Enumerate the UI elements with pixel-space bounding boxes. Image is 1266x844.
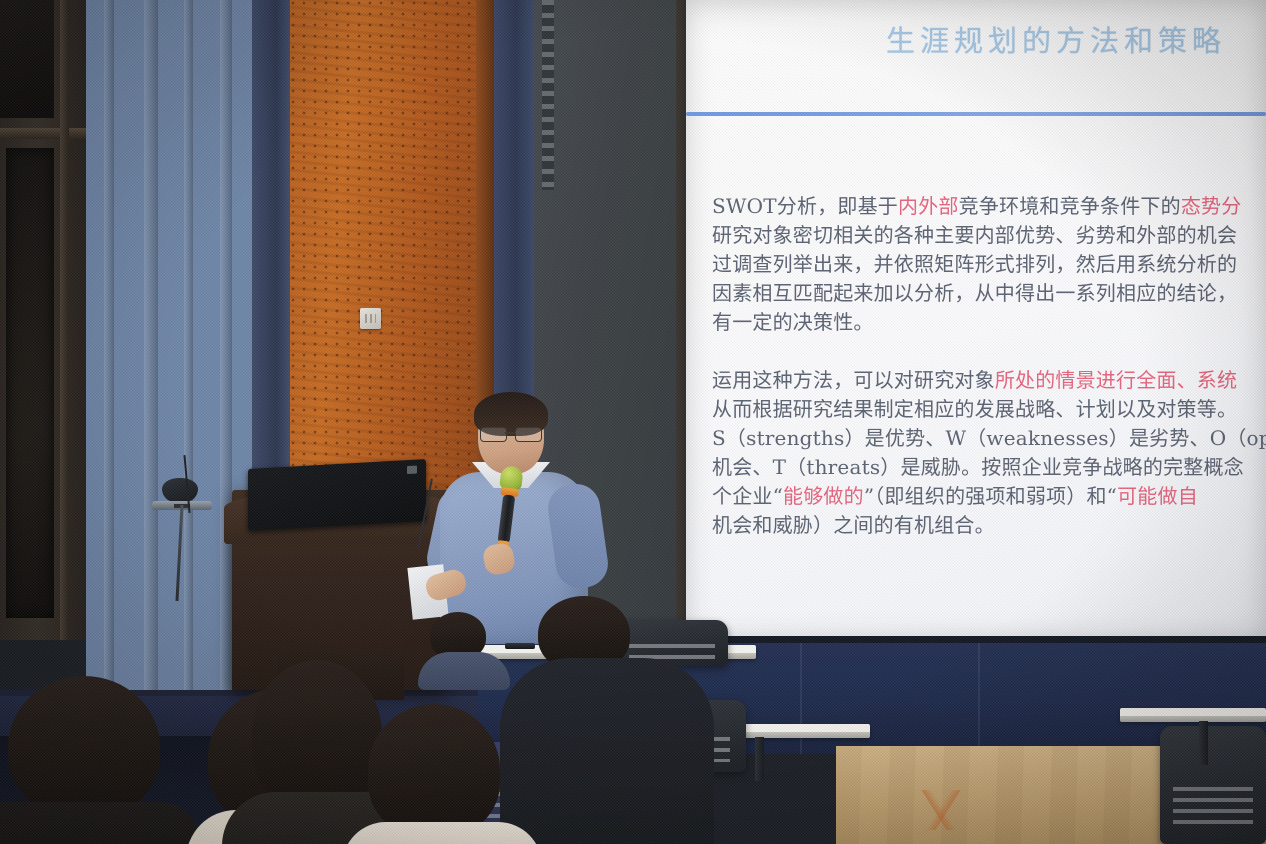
projection-screen: 生涯规划的方法和策略 SWOT分析，即基于内外部竞争环境和竞争条件下的态势分研究…	[686, 0, 1266, 640]
student	[500, 596, 700, 844]
lecture-hall-photo: 生涯规划的方法和策略 SWOT分析，即基于内外部竞争环境和竞争条件下的态势分研究…	[0, 0, 1266, 844]
floor-marking	[876, 790, 1006, 830]
laptop-logo	[407, 466, 417, 475]
slide-line: 运用这种方法，可以对研究对象所处的情景进行全面、系统	[712, 366, 1266, 395]
slide-text-run: 因素相互匹配起来加以分析，从中得出一系列相应的结论，	[712, 281, 1237, 305]
glasses-left-lens	[480, 427, 507, 442]
slide-body-text: SWOT分析，即基于内外部竞争环境和竞争条件下的态势分研究对象密切相关的各种主要…	[712, 192, 1266, 540]
slide-text-run: 过调查列举出来，并依照矩阵形式排列，然后用系统分析的	[712, 252, 1237, 276]
slide-text-highlight: 所处的情景进行全面、系统	[995, 368, 1237, 392]
slide-text-run: ”（即组织的强项和弱项）和“	[864, 484, 1117, 508]
window-mullion-horizontal	[0, 128, 92, 139]
camera-icon	[152, 478, 212, 508]
glasses-right-lens	[515, 427, 542, 442]
student	[0, 676, 190, 844]
window-mullion-vertical	[60, 0, 69, 640]
slide-text-run: 运用这种方法，可以对研究对象	[712, 368, 995, 392]
wall-outlet	[360, 308, 381, 329]
student-body	[418, 652, 510, 690]
window-pane-lower	[6, 148, 54, 618]
slide-line-gap	[712, 337, 1266, 366]
slide-text-highlight: 能够做的	[783, 484, 864, 508]
slide-title-rule	[686, 112, 1266, 116]
chair-slats	[1173, 787, 1254, 827]
curtain-fold	[184, 0, 193, 700]
desk	[1120, 708, 1266, 722]
slide-line: 过调查列举出来，并依照矩阵形式排列，然后用系统分析的	[712, 250, 1266, 279]
slide-line: 研究对象密切相关的各种主要内部优势、劣势和外部的机会	[712, 221, 1266, 250]
laptop[interactable]	[248, 459, 426, 531]
slide-line: 个企业“能够做的”（即组织的强项和弱项）和“可能做自	[712, 482, 1266, 511]
window-frame	[0, 0, 92, 640]
slide-line: 从而根据研究结果制定相应的发展战略、计划以及对策等。	[712, 395, 1266, 424]
slide-text-run: S（strengths）是优势、W（weaknesses）是劣势、O（opp	[712, 426, 1266, 450]
slide-line: S（strengths）是优势、W（weaknesses）是劣势、O（opp	[712, 424, 1266, 453]
student-hoodie	[500, 658, 714, 844]
slide-text-highlight: 态势分	[1181, 194, 1242, 218]
slide-text-highlight: 内外部	[898, 194, 959, 218]
slide-text-run: 机会、T（threats）是威胁。按照企业竞争战略的完整概念	[712, 455, 1244, 479]
wall-ridge	[542, 0, 554, 190]
slide-line: 机会和威胁）之间的有机组合。	[712, 511, 1266, 540]
panel-seam	[978, 643, 980, 754]
slide-line: 机会、T（threats）是威胁。按照企业竞争战略的完整概念	[712, 453, 1266, 482]
student-body	[342, 822, 542, 844]
student	[418, 612, 508, 670]
student-head	[8, 676, 160, 818]
slide-text-highlight: 可能做自	[1117, 484, 1198, 508]
slide-line: 因素相互匹配起来加以分析，从中得出一系列相应的结论，	[712, 279, 1266, 308]
slide-text-run: 研究对象密切相关的各种主要内部优势、劣势和外部的机会	[712, 223, 1237, 247]
slide-text-run: 竞争环境和竞争条件下的	[959, 194, 1181, 218]
camera-body	[162, 478, 198, 502]
slide-line: SWOT分析，即基于内外部竞争环境和竞争条件下的态势分	[712, 192, 1266, 221]
slide-title: 生涯规划的方法和策略	[886, 18, 1226, 60]
slide-text-run: SWOT分析，即基于	[712, 194, 898, 218]
window-pane-upper	[0, 0, 54, 118]
curtain-fold	[144, 0, 158, 700]
slide-text-run: 机会和威胁）之间的有机组合。	[712, 513, 995, 537]
student-head	[368, 704, 500, 836]
curtain-fold	[220, 0, 232, 700]
slide-text-run: 从而根据研究结果制定相应的发展战略、计划以及对策等。	[712, 397, 1237, 421]
slide-text-run: 有一定的决策性。	[712, 310, 874, 334]
slide-line: 有一定的决策性。	[712, 308, 1266, 337]
slide-text-run: 个企业“	[712, 484, 783, 508]
curtain-fold	[104, 0, 114, 700]
student-body	[0, 802, 200, 844]
student	[352, 704, 522, 844]
chair	[1160, 726, 1266, 844]
mic-body	[498, 494, 516, 543]
glasses-icon	[480, 427, 542, 440]
